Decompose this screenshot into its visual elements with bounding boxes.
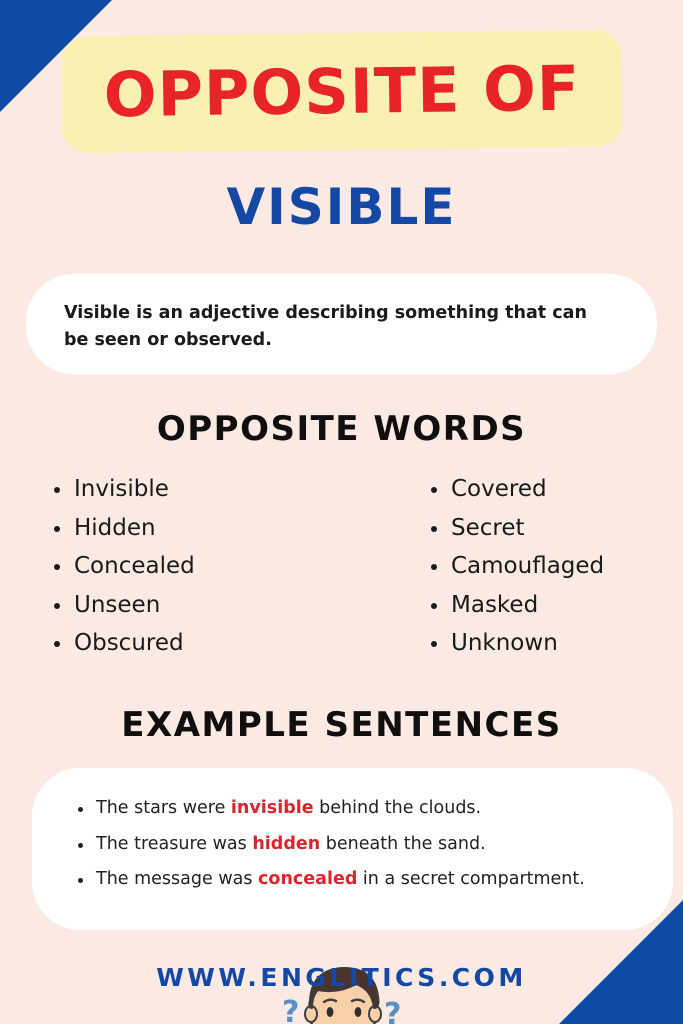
list-item: Unknown	[451, 632, 660, 655]
title-block: OPPOSITE OF	[62, 33, 622, 150]
list-item: The message was concealed in a secret co…	[78, 871, 643, 889]
sentence-suffix: beneath the sand.	[320, 834, 485, 854]
sentence-suffix: behind the clouds.	[314, 798, 482, 818]
opposite-words-right-column: Covered Secret Camouflaged Masked Unknow…	[425, 478, 660, 671]
opposite-words-heading: OPPOSITE WORDS	[0, 409, 683, 449]
svg-text:?: ?	[282, 995, 299, 1024]
list-item: The stars were invisible behind the clou…	[78, 800, 643, 818]
page-subtitle: VISIBLE	[0, 178, 683, 236]
opposite-words-left-column: Invisible Hidden Concealed Unseen Obscur…	[48, 478, 283, 671]
sentence-prefix: The treasure was	[96, 834, 252, 854]
example-sentences-heading: EXAMPLE SENTENCES	[0, 705, 683, 745]
definition-card: Visible is an adjective describing somet…	[26, 274, 657, 374]
sentence-suffix: in a secret compartment.	[357, 869, 584, 889]
list-item: Invisible	[74, 478, 283, 501]
page-title: OPPOSITE OF	[61, 29, 623, 154]
list-item: Masked	[451, 594, 660, 617]
sentence-keyword: hidden	[252, 834, 320, 854]
sentence-prefix: The message was	[96, 869, 258, 889]
sentence-keyword: invisible	[231, 798, 314, 818]
svg-text:?: ?	[384, 997, 401, 1024]
list-item: The treasure was hidden beneath the sand…	[78, 836, 643, 854]
list-item: Secret	[451, 517, 660, 540]
list-item: Hidden	[74, 517, 283, 540]
opposite-words-section: Invisible Hidden Concealed Unseen Obscur…	[0, 478, 683, 678]
website-url[interactable]: WWW.ENGLITICS.COM	[0, 963, 683, 992]
list-item: Camouflaged	[451, 555, 660, 578]
list-item: Obscured	[74, 632, 283, 655]
list-item: Covered	[451, 478, 660, 501]
example-sentences-card: The stars were invisible behind the clou…	[32, 768, 673, 930]
list-item: Unseen	[74, 594, 283, 617]
list-item: Concealed	[74, 555, 283, 578]
sentence-keyword: concealed	[258, 869, 357, 889]
definition-text: Visible is an adjective describing somet…	[64, 300, 613, 354]
sentence-prefix: The stars were	[96, 798, 231, 818]
infographic-poster: OPPOSITE OF VISIBLE Visible is an adject…	[0, 0, 683, 1024]
example-sentences-list: The stars were invisible behind the clou…	[78, 800, 643, 907]
